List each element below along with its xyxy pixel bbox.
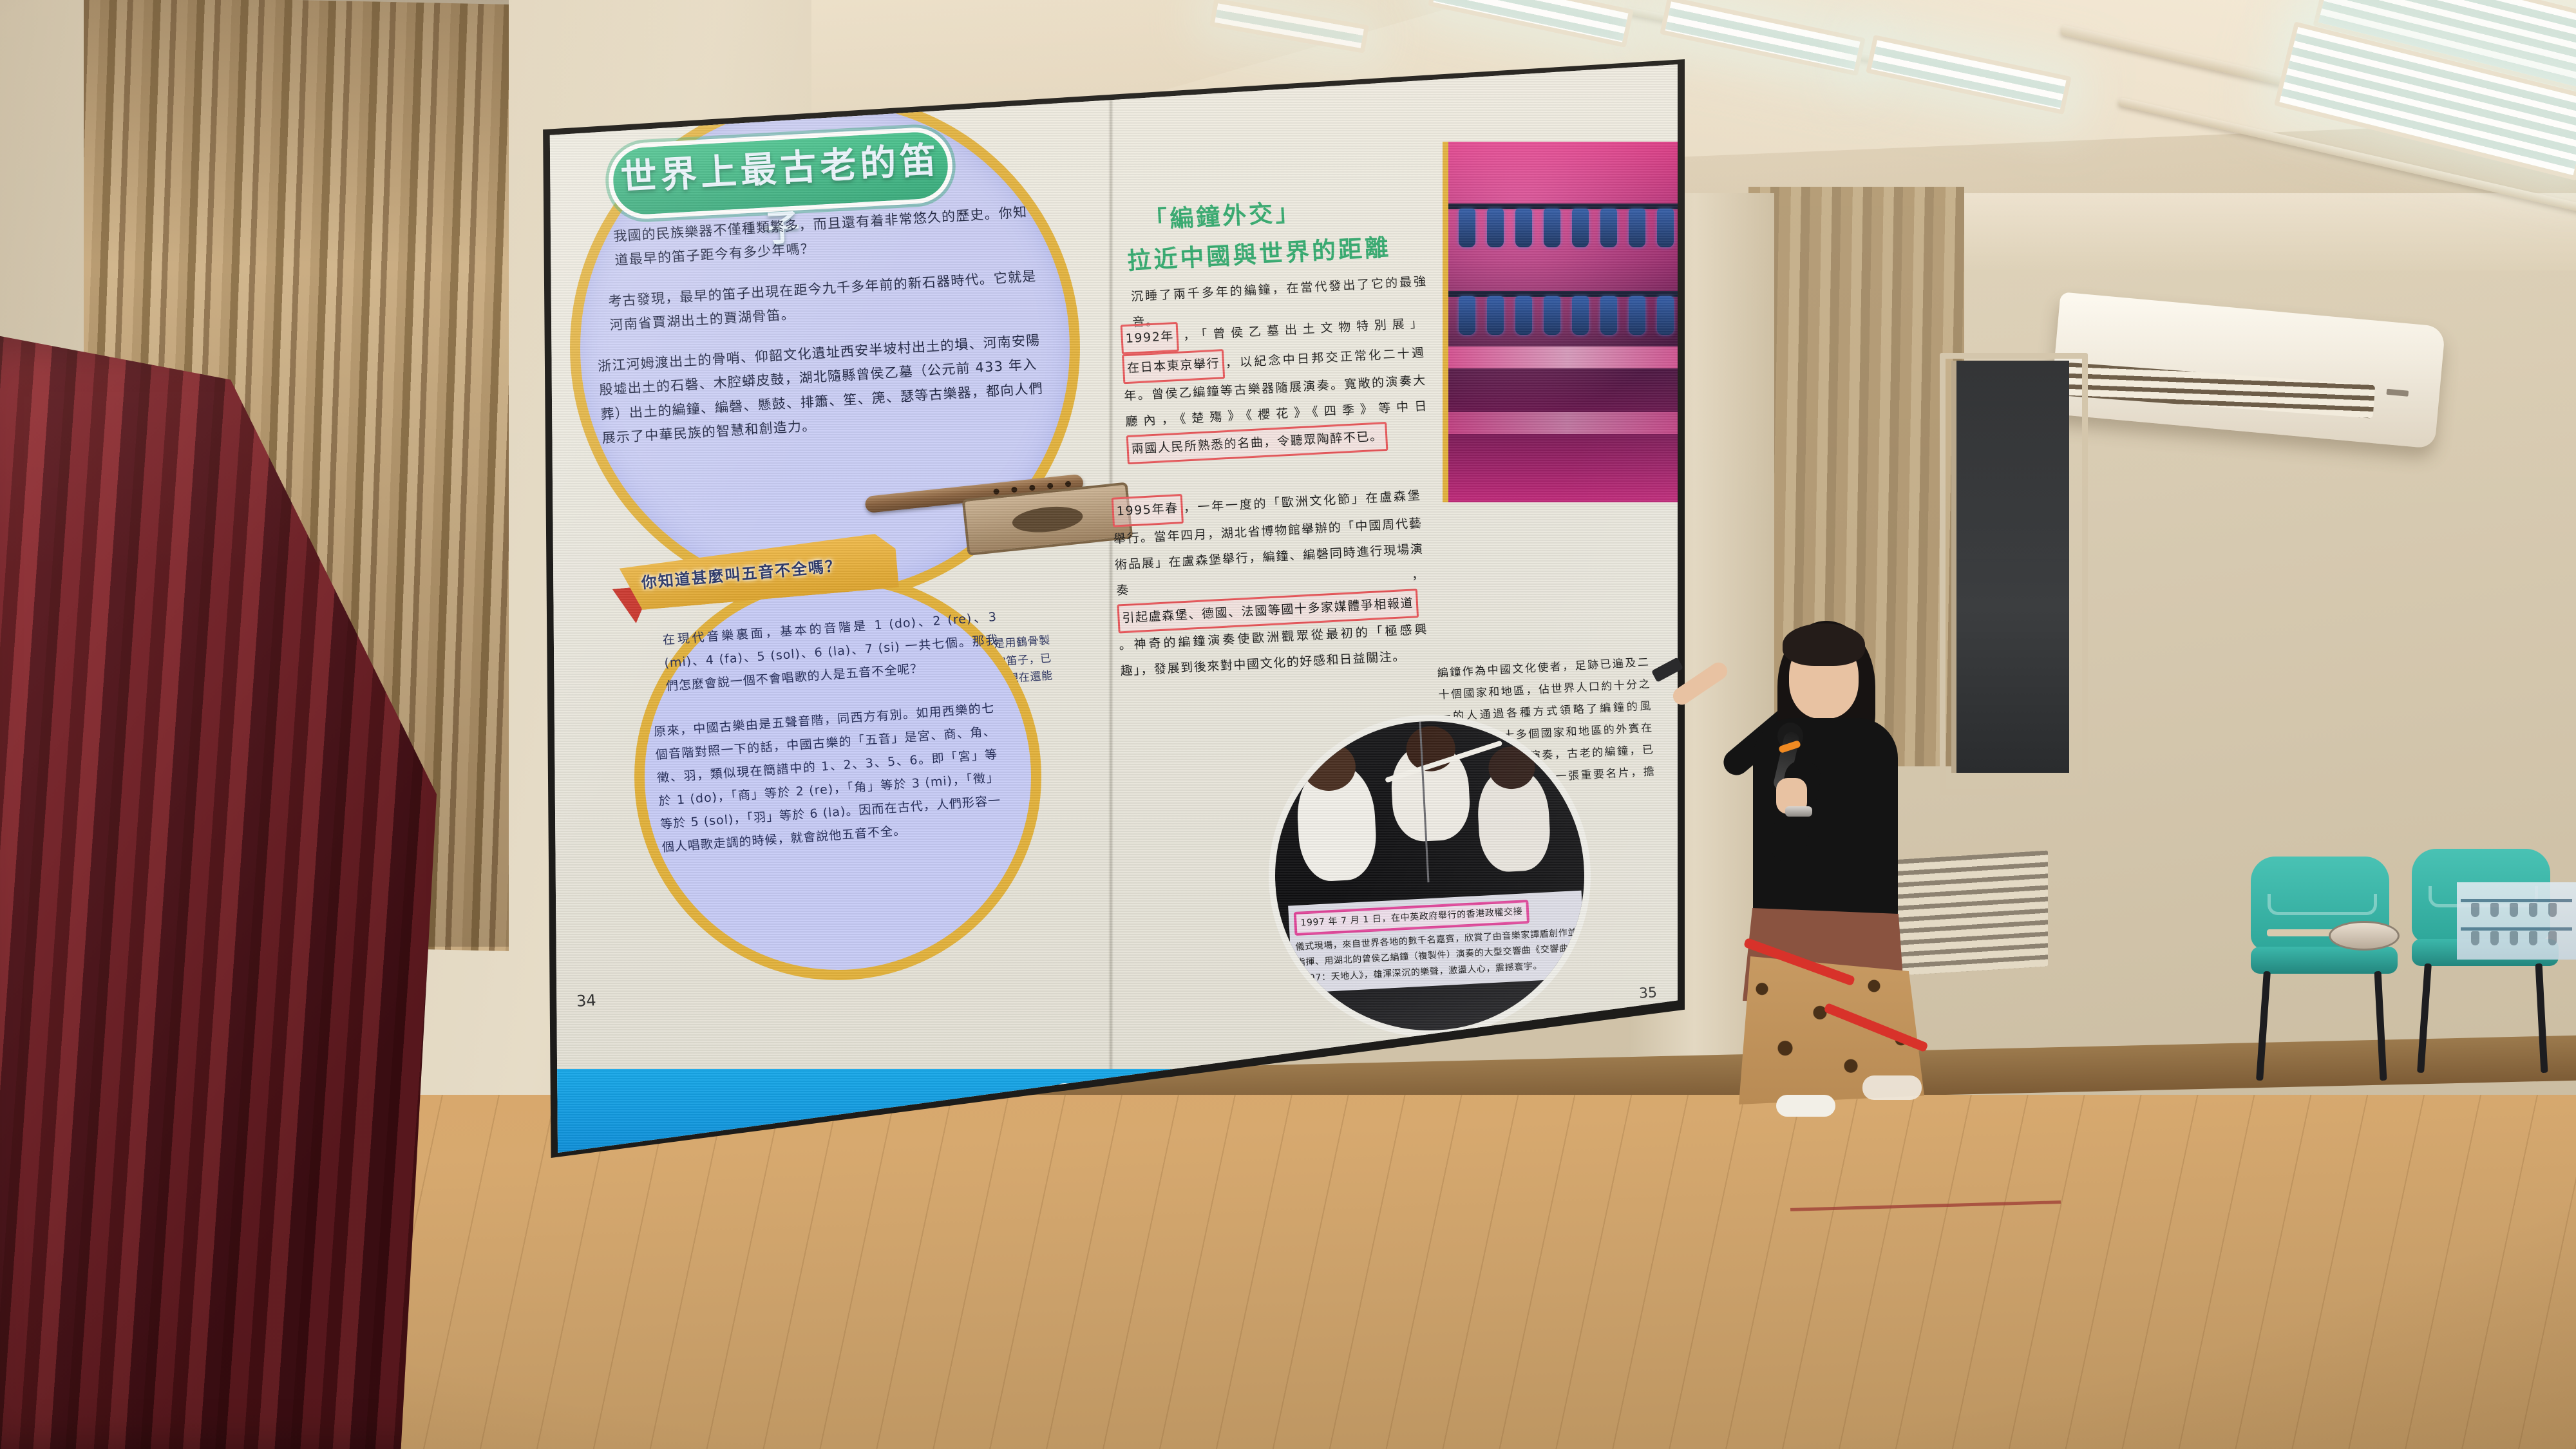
concert-photo-caption: 1997 年 7 月 1 日，在中英政府舉行的香港政權交接 儀式現場，來自世界各… xyxy=(1288,891,1586,994)
bianzhong-bells-photo xyxy=(1443,142,1687,502)
presenter-skirt-red-trim xyxy=(1738,947,1924,1095)
scene-photo: 世界上最古老的笛子 我國的民族樂器不僅種類繁多，而且還有着非常悠久的歷史。你知道… xyxy=(0,0,2576,1449)
right-page-paragraph-3: 1995年春，一年一度的「歐洲文化節」在盧森堡舉行。當年四月，湖北省博物館舉辦的… xyxy=(1112,482,1430,685)
bianzhong-poster xyxy=(2457,882,2576,960)
air-conditioner-led xyxy=(2386,389,2409,397)
wristwatch xyxy=(1785,806,1812,817)
banjo-neck xyxy=(2267,929,2338,936)
right-page-number: 35 xyxy=(1638,985,1657,1001)
banjo-instrument xyxy=(2267,921,2396,947)
presenter xyxy=(1681,599,1958,1114)
highlight-tokyo: 在日本東京舉行 xyxy=(1122,349,1225,384)
presenter-shoe xyxy=(1776,1095,1835,1117)
slide-canvas: 世界上最古老的笛子 我國的民族樂器不僅種類繁多，而且還有着非常悠久的歷史。你知道… xyxy=(544,64,1678,1153)
highlight-year-1992: 1992年 xyxy=(1121,322,1180,355)
left-page-lower-paragraph-2: 原來，中國古樂由是五聲音階，同西方有別。如用西樂的七個音階對照一下的話，中國古樂… xyxy=(653,697,1003,860)
rp3d: 。神奇的編鐘演奏使歐洲觀眾從最初的「極感興趣」，發展到後來對中國文化的好感和日益… xyxy=(1119,623,1428,679)
right-page-paragraph-2: 1992年，「曾侯乙墓出土文物特別展」在日本東京舉行，以紀念中日邦交正常化二十週… xyxy=(1121,309,1430,465)
chair-seat xyxy=(2251,947,2398,974)
bone-flute-case-inset xyxy=(1011,504,1084,535)
air-conditioner-grille xyxy=(2065,363,2376,419)
banjo-head xyxy=(2329,921,2400,951)
door xyxy=(1951,361,2069,773)
highlight-year-1995: 1995年春 xyxy=(1112,494,1184,527)
presenter-shoe xyxy=(1862,1075,1922,1100)
presenter-fringe xyxy=(1783,623,1865,666)
book-gutter xyxy=(1108,64,1113,1153)
rp2b: ，「曾侯乙墓出土文物特別展」 xyxy=(1178,316,1423,343)
projection-screen[interactable]: 世界上最古老的笛子 我國的民族樂器不僅種類繁多，而且還有着非常悠久的歷史。你知道… xyxy=(544,64,1678,1153)
concert-caption-body: 儀式現場，來自世界各地的數千名嘉賓，欣賞了由音樂家譚盾創作並指揮、用湖北的曾侯乙… xyxy=(1295,925,1580,987)
left-page-number: 34 xyxy=(576,991,596,1010)
